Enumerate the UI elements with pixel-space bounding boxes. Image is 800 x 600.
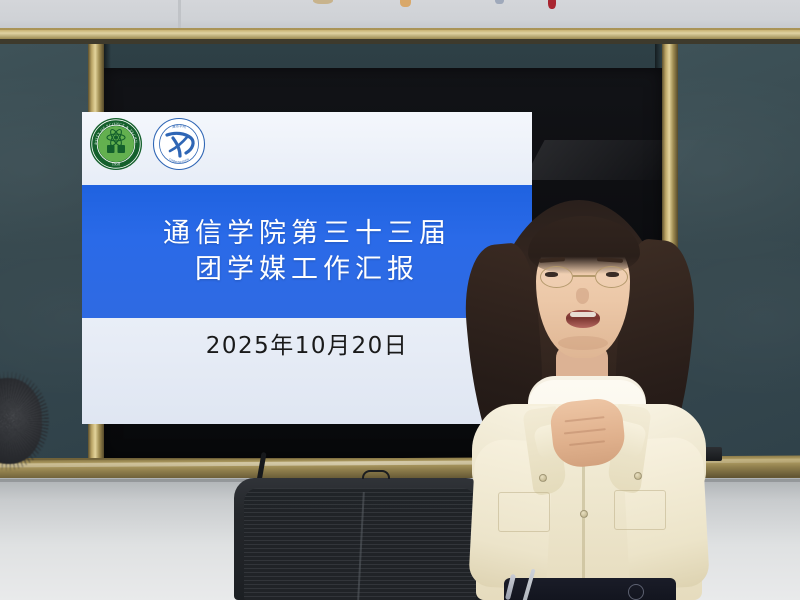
nose: [576, 288, 589, 304]
jacket-pocket-left: [498, 492, 550, 532]
microphone-windscreen-icon: [0, 378, 42, 464]
display-glare: [523, 140, 774, 180]
slide-title-line-1: 通信学院第三十三届: [163, 219, 451, 248]
glasses-lens-right: [595, 266, 628, 288]
frame-top-highlight: [0, 30, 800, 39]
jacket-button-1: [539, 474, 547, 482]
finger-crease-2: [564, 428, 606, 434]
jacket-button-2: [634, 472, 642, 480]
wall-decoration-4: [548, 0, 556, 9]
glasses-icon: [538, 266, 630, 288]
glasses-lens-left: [540, 266, 573, 288]
pants-logo: [628, 584, 644, 600]
jacket-button-3: [580, 510, 588, 518]
chin-shadow: [558, 336, 608, 350]
chair-hook: [362, 470, 390, 479]
college-emblem-blue-icon: 通信学院 COMMUNICATION: [151, 116, 207, 177]
classroom-scene: 1958 UNIVERSITY OF SCIENCE & TECHNOLOGY: [0, 0, 800, 600]
finger-crease-1: [565, 416, 605, 422]
slide-logo-group: 1958 UNIVERSITY OF SCIENCE & TECHNOLOGY: [88, 116, 207, 177]
finger-crease-3: [569, 440, 605, 446]
slide-title-line-2: 团学媒工作汇报: [195, 255, 419, 284]
wall-decoration-2: [400, 0, 411, 7]
svg-text:1958: 1958: [112, 162, 120, 167]
university-seal-green-icon: 1958 UNIVERSITY OF SCIENCE & TECHNOLOGY: [88, 116, 144, 177]
glasses-bridge: [573, 275, 595, 277]
jacket-pocket-right: [614, 490, 666, 530]
teeth: [570, 312, 596, 317]
presenter: [432, 192, 732, 600]
